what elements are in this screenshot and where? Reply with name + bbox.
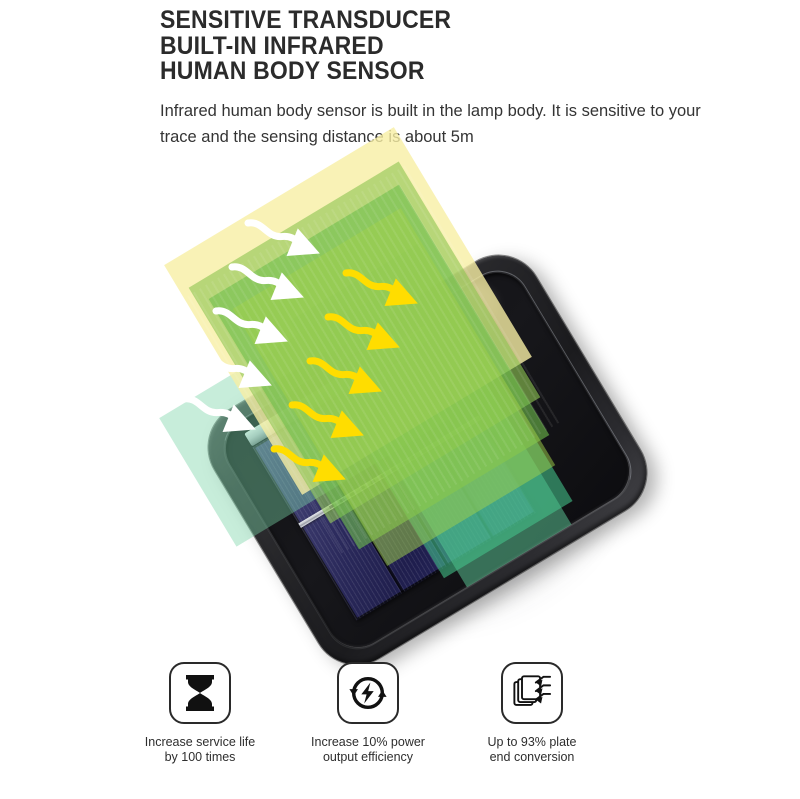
headline-line-1: SENSITIVE TRANSDUCER	[160, 8, 730, 34]
feature-item-plate-conversion: Up to 93% plate end conversion	[432, 662, 632, 765]
stacked-plates-icon-box	[501, 662, 563, 724]
power-cycle-bolt-icon	[347, 672, 389, 714]
headline-line-2: BUILT-IN INFRARED	[160, 34, 730, 60]
infographic-page: SENSITIVE TRANSDUCER BUILT-IN INFRARED H…	[0, 0, 800, 799]
feature-caption-3-line2: end conversion	[432, 750, 632, 765]
power-cycle-bolt-icon-box	[337, 662, 399, 724]
header-block: SENSITIVE TRANSDUCER BUILT-IN INFRARED H…	[160, 8, 780, 150]
illustration-stage	[150, 165, 670, 645]
hourglass-icon-box	[169, 662, 231, 724]
hourglass-icon	[181, 673, 219, 713]
headline-line-3: HUMAN BODY SENSOR	[160, 59, 730, 85]
yellow-arrow-group	[269, 267, 422, 489]
header-description: Infrared human body sensor is built in t…	[160, 98, 720, 150]
feature-row: Increase service life by 100 times Incre…	[0, 662, 800, 792]
light-ray-arrows	[150, 165, 670, 645]
feature-caption-3-line1: Up to 93% plate	[432, 735, 632, 750]
product-illustration	[0, 165, 800, 645]
stacked-plates-arrows-icon	[511, 673, 553, 713]
